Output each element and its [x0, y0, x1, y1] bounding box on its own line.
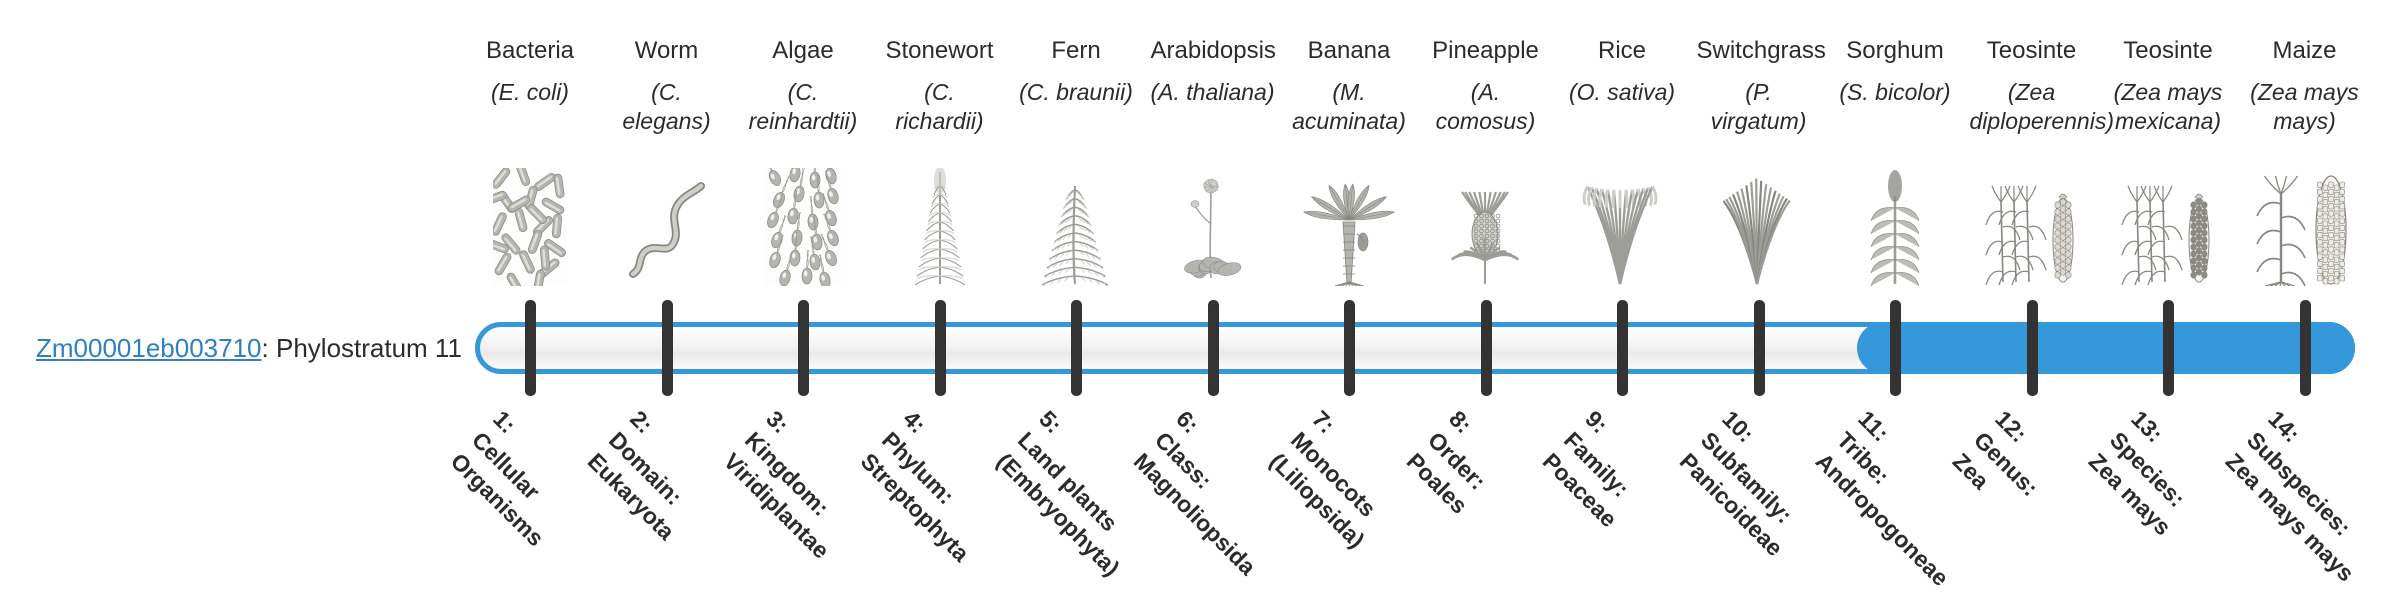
species-scientific-name: (C. richardii): [878, 78, 1002, 136]
stratum-label-2: 2:Domain:Eukaryota: [581, 404, 723, 546]
stratum-label-1: 1:CellularOrganisms: [444, 404, 593, 553]
timeline-fill: [1857, 322, 2355, 374]
species-scientific-name: (P. virgatum): [1697, 78, 1821, 136]
stratum-label-11: 11:Tribe:Andropogoneae: [1809, 404, 1997, 592]
timeline-tick-4: [935, 300, 946, 396]
rice-icon: [1560, 168, 1684, 286]
timeline-tick-11: [1890, 300, 1901, 396]
species-common-name: Switchgrass: [1697, 36, 1821, 66]
species-header-pineapple-8: Pineapple(A. comosus): [1424, 36, 1548, 136]
species-common-name: Worm: [605, 36, 729, 66]
species-common-name: Sorghum: [1833, 36, 1957, 66]
species-scientific-name: (Zea diploperennis): [1970, 78, 2094, 136]
switchgrass-icon: [1697, 168, 1821, 286]
species-common-name: Teosinte: [1970, 36, 2094, 66]
teosinte-diploperennis-icon: [1970, 168, 2094, 286]
species-common-name: Fern: [1014, 36, 1138, 66]
species-header-algae-3: Algae(C. reinhardtii): [741, 36, 865, 136]
bacteria-icon: [468, 168, 592, 286]
timeline-tick-2: [662, 300, 673, 396]
stratum-label-14: 14:Subspecies:Zea mays mays: [2219, 404, 2400, 588]
stonewort-icon: [878, 168, 1002, 286]
species-scientific-name: (A. comosus): [1424, 78, 1548, 136]
species-scientific-name: (Zea mays mays): [2243, 78, 2367, 136]
species-scientific-name: (M. acuminata): [1287, 78, 1411, 136]
timeline-tick-3: [798, 300, 809, 396]
species-header-bacteria-1: Bacteria(E. coli): [468, 36, 592, 107]
arabidopsis-icon: [1151, 168, 1275, 286]
gene-label-separator: :: [262, 333, 276, 363]
species-header-switchgrass-10: Switchgrass(P. virgatum): [1697, 36, 1821, 136]
species-header-row: Bacteria(E. coli)Worm(C. elegans)Algae(C…: [470, 36, 2370, 166]
stratum-label-9: 9:Family:Poaceae: [1536, 404, 1666, 534]
stratum-label-13: 13:Species:Zea mays: [2082, 404, 2220, 542]
species-scientific-name: (Zea mays mexicana): [2106, 78, 2230, 136]
timeline-tick-12: [2027, 300, 2038, 396]
stratum-label-10: 10:Subfamily:Panicoideae: [1673, 404, 1832, 563]
species-scientific-name: (O. sativa): [1560, 78, 1684, 107]
timeline-tick-8: [1481, 300, 1492, 396]
pineapple-icon: [1424, 168, 1548, 286]
species-common-name: Banana: [1287, 36, 1411, 66]
species-scientific-name: (A. thaliana): [1151, 78, 1275, 107]
species-scientific-name: (E. coli): [468, 78, 592, 107]
stratum-label-4: 4:Phylum:Streptophyta: [854, 404, 1018, 568]
stratum-label-6: 6:Class:Magnoliopsida: [1127, 404, 1304, 581]
timeline-tick-1: [525, 300, 536, 396]
sorghum-icon: [1833, 168, 1957, 286]
timeline-tick-7: [1344, 300, 1355, 396]
timeline-tick-6: [1208, 300, 1219, 396]
timeline-tick-9: [1617, 300, 1628, 396]
species-header-banana-7: Banana(M. acuminata): [1287, 36, 1411, 136]
species-common-name: Bacteria: [468, 36, 592, 66]
species-scientific-name: (S. bicolor): [1833, 78, 1957, 107]
worm-icon: [605, 168, 729, 286]
teosinte-mexicana-icon: [2106, 168, 2230, 286]
species-common-name: Pineapple: [1424, 36, 1548, 66]
species-header-sorghum-11: Sorghum(S. bicolor): [1833, 36, 1957, 107]
phylostratigraphy-figure: Zm00001eb003710: Phylostratum 11 Bacteri…: [0, 0, 2400, 580]
banana-icon: [1287, 168, 1411, 286]
stratum-label-5: 5:Land plants(Embryophyta): [990, 404, 1168, 582]
species-common-name: Algae: [741, 36, 865, 66]
stratum-label-8: 8:Order:Poales: [1400, 404, 1516, 520]
species-header-teosinte-12: Teosinte(Zea diploperennis): [1970, 36, 2094, 136]
species-common-name: Rice: [1560, 36, 1684, 66]
gene-phylostratum-label: Zm00001eb003710: Phylostratum 11: [36, 332, 456, 364]
species-scientific-name: (C. braunii): [1014, 78, 1138, 107]
species-common-name: Stonewort: [878, 36, 1002, 66]
species-header-fern-5: Fern(C. braunii): [1014, 36, 1138, 107]
species-header-teosinte-13: Teosinte(Zea mays mexicana): [2106, 36, 2230, 136]
gene-id-link[interactable]: Zm00001eb003710: [36, 333, 262, 363]
timeline-tick-13: [2163, 300, 2174, 396]
phylostratum-text: Phylostratum 11: [276, 333, 462, 363]
timeline-tick-5: [1071, 300, 1082, 396]
species-header-stonewort-4: Stonewort(C. richardii): [878, 36, 1002, 136]
organism-illustration-row: [470, 168, 2370, 288]
species-header-rice-9: Rice(O. sativa): [1560, 36, 1684, 107]
species-common-name: Arabidopsis: [1151, 36, 1275, 66]
timeline-tick-10: [1754, 300, 1765, 396]
stratum-label-row: 1:CellularOrganisms2:Domain:Eukaryota3:K…: [470, 404, 2400, 580]
species-scientific-name: (C. reinhardtii): [741, 78, 865, 136]
species-header-arabidopsis-6: Arabidopsis(A. thaliana): [1151, 36, 1275, 107]
algae-icon: [741, 168, 865, 286]
species-header-maize-14: Maize(Zea mays mays): [2243, 36, 2367, 136]
fern-icon: [1014, 168, 1138, 286]
species-common-name: Maize: [2243, 36, 2367, 66]
species-header-worm-2: Worm(C. elegans): [605, 36, 729, 136]
stratum-label-3: 3:Kingdom:Viridiplantae: [717, 404, 878, 565]
timeline-tick-14: [2300, 300, 2311, 396]
maize-icon: [2243, 168, 2367, 286]
species-common-name: Teosinte: [2106, 36, 2230, 66]
species-scientific-name: (C. elegans): [605, 78, 729, 136]
